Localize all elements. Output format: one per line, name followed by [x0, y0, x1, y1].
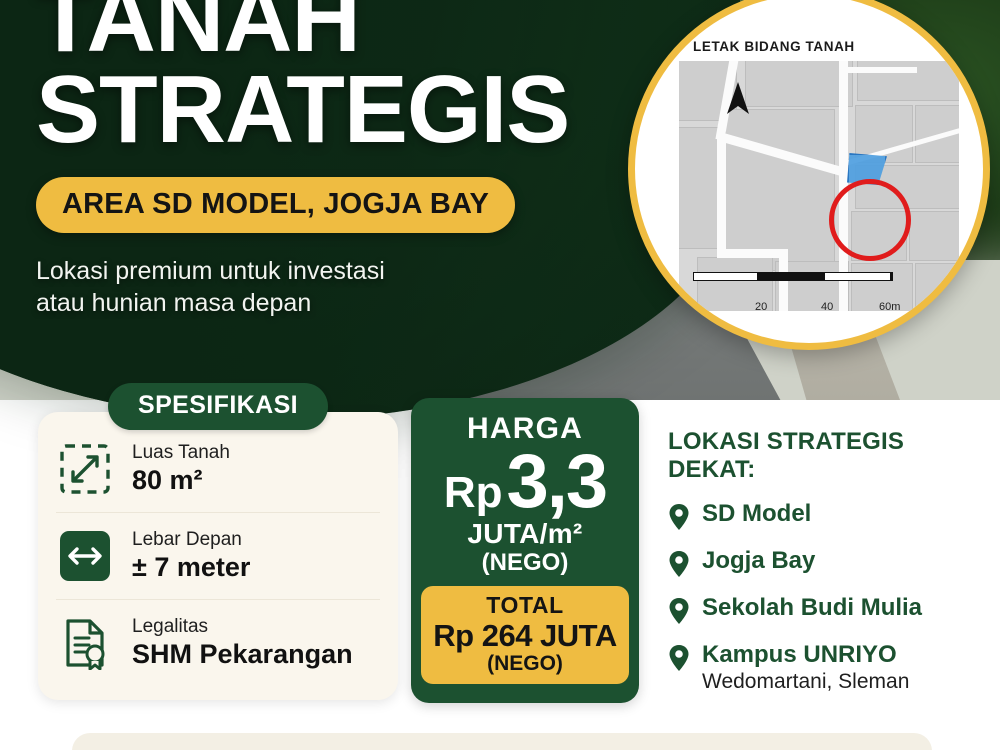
spec-value: SHM Pekarangan [132, 639, 353, 670]
map-pin-icon [668, 503, 690, 531]
hero-subtitle-line1: Lokasi premium untuk investasi [36, 255, 616, 287]
map-title: LETAK BIDANG TANAH [693, 39, 855, 54]
spec-value: 80 m² [132, 465, 230, 496]
certificate-document-icon [56, 614, 114, 672]
price-amount: 3,3 [507, 448, 607, 516]
scale-tick-0: 0 [693, 301, 699, 311]
list-item-text: Sekolah Budi Mulia [702, 595, 922, 620]
spec-text-lebar-depan: Lebar Depan ± 7 meter [132, 529, 250, 584]
map-block [725, 109, 835, 271]
red-circle-highlight [829, 179, 911, 261]
list-item: SD Model [668, 501, 998, 531]
page-title-line1: TANAH [36, 0, 616, 63]
map-block [909, 211, 959, 261]
lokasi-name: Sekolah Budi Mulia [702, 595, 922, 620]
spec-text-luas-tanah: Luas Tanah 80 m² [132, 442, 230, 497]
spec-label: Legalitas [132, 616, 353, 638]
map-block [915, 263, 959, 311]
lokasi-name: SD Model [702, 501, 811, 526]
north-arrow-icon [725, 81, 751, 115]
map-pin-icon [668, 550, 690, 578]
map-road [845, 67, 917, 73]
lokasi-name: Jogja Bay [702, 548, 815, 573]
lokasi-note: Wedomartani, Sleman [702, 670, 909, 693]
total-nego: (NEGO) [427, 652, 623, 676]
width-arrows-icon [56, 527, 114, 585]
map-pin-icon [668, 597, 690, 625]
list-item: Sekolah Budi Mulia [668, 595, 998, 625]
lokasi-heading: LOKASI STRATEGIS DEKAT: [668, 428, 998, 484]
lokasi-name: Kampus UNRIYO [702, 642, 909, 667]
spec-row-legalitas: Legalitas SHM Pekarangan [56, 599, 380, 686]
scale-tick-60: 60m [879, 301, 900, 311]
map-road [717, 137, 726, 257]
hero-text-block: TANAH STRATEGIS AREA SD MODEL, JOGJA BAY… [36, 0, 616, 319]
list-item: Jogja Bay [668, 548, 998, 578]
hero-subtitle: Lokasi premium untuk investasi atau huni… [36, 255, 616, 319]
spec-label: Lebar Depan [132, 529, 250, 551]
area-expand-icon [56, 440, 114, 498]
lokasi-section: LOKASI STRATEGIS DEKAT: SD Model Jogja B… [668, 428, 998, 693]
page-title-line2: STRATEGIS [36, 65, 616, 154]
spec-row-lebar-depan: Lebar Depan ± 7 meter [56, 512, 380, 599]
spesifikasi-heading: SPESIFIKASI [108, 383, 328, 430]
location-map-circle[interactable]: 0 20 40 60m LETAK BIDANG TANAH [628, 0, 990, 350]
poster-root: TANAH STRATEGIS AREA SD MODEL, JOGJA BAY… [0, 0, 1000, 750]
spesifikasi-card: Luas Tanah 80 m² Lebar Depan ± 7 meter [38, 412, 398, 700]
list-item-text: Jogja Bay [702, 548, 815, 573]
spec-label: Luas Tanah [132, 442, 230, 464]
map-pin-icon [668, 644, 690, 672]
hero-subtitle-line2: atau hunian masa depan [36, 287, 616, 319]
list-item: Kampus UNRIYO Wedomartani, Sleman [668, 642, 998, 693]
spec-value: ± 7 meter [132, 552, 250, 583]
total-value: Rp 264 JUTA [427, 618, 623, 654]
price-currency: Rp [444, 473, 503, 513]
price-card: HARGA Rp 3,3 JUTA/m² (NEGO) TOTAL Rp 264… [411, 398, 639, 703]
scale-tick-40: 40 [821, 301, 833, 311]
bottom-partial-card [72, 733, 932, 750]
spec-text-legalitas: Legalitas SHM Pekarangan [132, 616, 353, 671]
spec-row-luas-tanah: Luas Tanah 80 m² [56, 426, 380, 512]
list-item-text: Kampus UNRIYO Wedomartani, Sleman [702, 642, 909, 693]
total-price-box: TOTAL Rp 264 JUTA (NEGO) [421, 586, 629, 684]
price-main-value: Rp 3,3 [444, 448, 606, 516]
scale-tick-20: 20 [755, 301, 767, 311]
map-road [717, 249, 787, 258]
price-unit: JUTA/m² [467, 518, 582, 550]
price-nego: (NEGO) [482, 549, 569, 577]
list-item-text: SD Model [702, 501, 811, 526]
map-scale-bar [693, 272, 893, 281]
map-canvas: 0 20 40 60m [679, 61, 959, 311]
total-label: TOTAL [427, 592, 623, 619]
map-block [745, 61, 853, 107]
area-badge: AREA SD MODEL, JOGJA BAY [36, 177, 515, 233]
